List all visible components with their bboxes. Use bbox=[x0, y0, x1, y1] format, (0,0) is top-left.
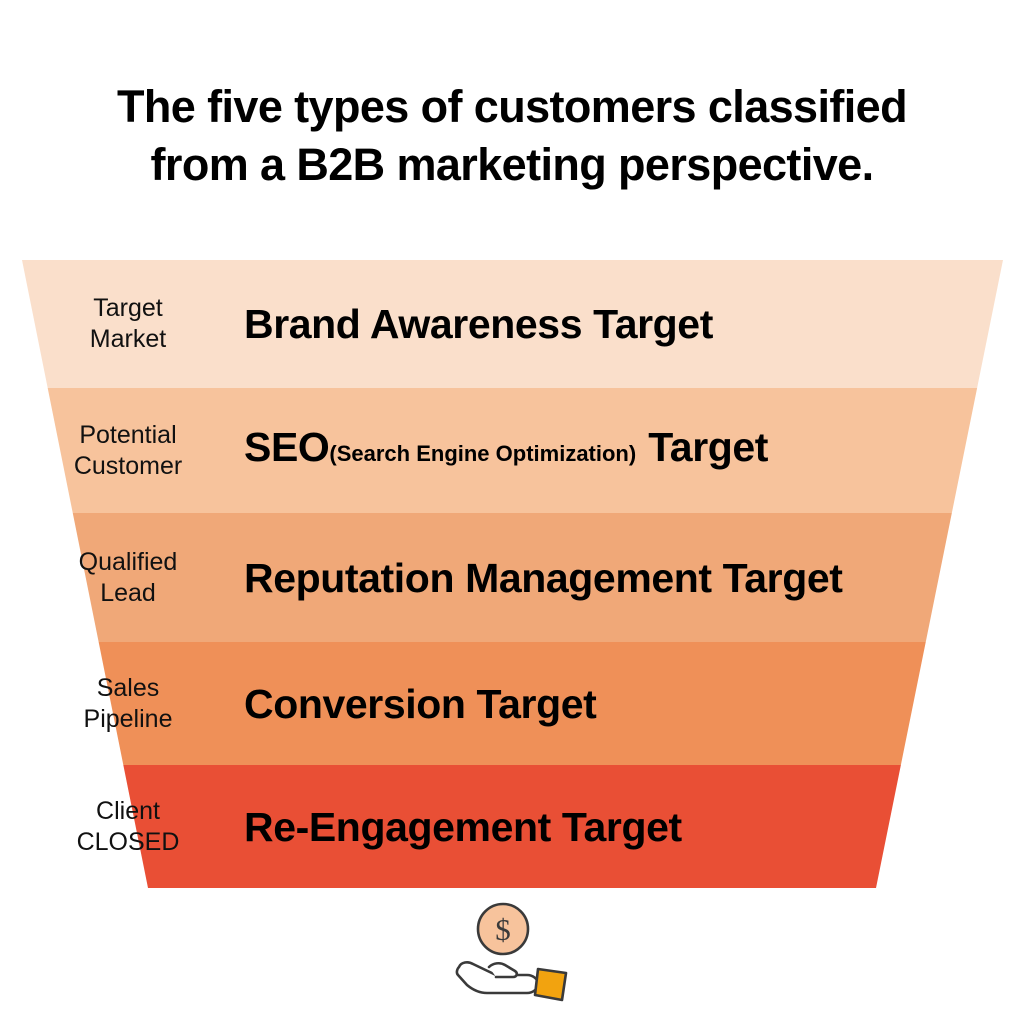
funnel-diagram: TargetMarketBrand Awareness TargetPotent… bbox=[0, 0, 1024, 1024]
funnel-band-group bbox=[0, 260, 1024, 888]
funnel-band-5 bbox=[0, 765, 1024, 888]
funnel-band-4 bbox=[0, 642, 1024, 765]
infographic-canvas: The five types of customers classified f… bbox=[0, 0, 1024, 1024]
funnel-band-3 bbox=[0, 513, 1024, 642]
dollar-sign-glyph: $ bbox=[495, 912, 511, 947]
funnel-bands-svg bbox=[0, 0, 1024, 1024]
sleeve-cuff bbox=[535, 969, 566, 1000]
funnel-band-1 bbox=[0, 260, 1024, 388]
hand-holding-coin-icon: $ bbox=[449, 899, 581, 1002]
funnel-band-2 bbox=[0, 388, 1024, 513]
